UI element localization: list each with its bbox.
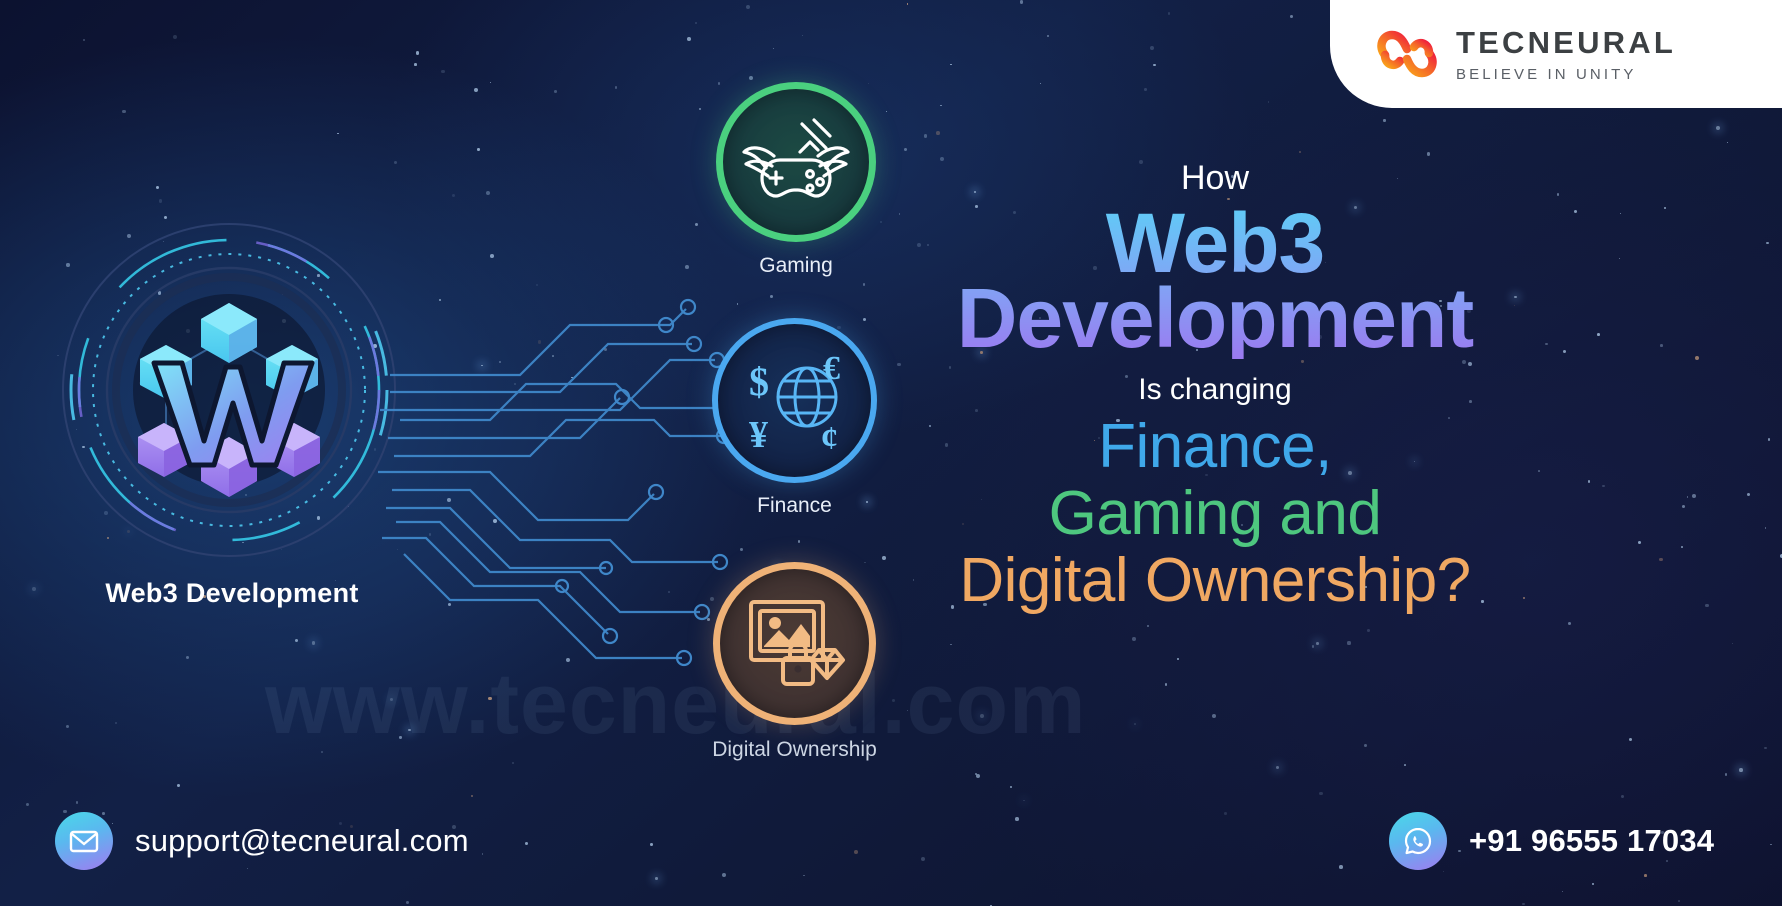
tecneural-infinity-knot-icon <box>1376 25 1438 83</box>
headline-title: Web3 Development <box>905 203 1525 358</box>
digital-ownership-label: Digital Ownership <box>712 738 877 762</box>
svg-text:¢: ¢ <box>821 420 838 455</box>
whatsapp-icon <box>1389 812 1447 870</box>
node-digital-ownership[interactable]: Digital Ownership <box>713 562 876 725</box>
envelope-icon <box>55 812 113 870</box>
web3-promo-banner: www.tecneural.com TECNEURAL BELIEVE I <box>0 0 1782 906</box>
brand-tagline: BELIEVE IN UNITY <box>1456 67 1676 82</box>
digital-ownership-ring <box>713 562 876 725</box>
svg-text:$: $ <box>749 359 769 404</box>
winged-gamepad-sword-icon <box>740 116 852 208</box>
node-gaming[interactable]: Gaming <box>716 82 876 242</box>
headline-title-line2: Development <box>905 278 1525 359</box>
headline-eyebrow: How <box>905 160 1525 197</box>
gaming-label: Gaming <box>759 254 833 278</box>
headline-item-gaming: Gaming and <box>905 481 1525 548</box>
svg-text:€: € <box>823 350 840 387</box>
headline-block: How Web3 Development Is changing Finance… <box>905 160 1525 615</box>
contact-phone[interactable]: +91 96555 17034 <box>1389 812 1714 870</box>
finance-label: Finance <box>757 494 832 518</box>
headline-item-ownership: Digital Ownership? <box>905 548 1525 615</box>
phone-number[interactable]: +91 96555 17034 <box>1469 823 1714 859</box>
gaming-ring <box>716 82 876 242</box>
globe-currency-symbols-icon: $ ¥ € ¢ <box>735 347 855 455</box>
headline-connector: Is changing <box>905 373 1525 406</box>
web3-blockchain-w-icon <box>54 215 404 565</box>
headline-item-finance: Finance, <box>905 414 1525 481</box>
framed-artwork-lock-diamond-icon <box>739 594 851 694</box>
brand-name: TECNEURAL <box>1456 27 1676 58</box>
node-finance[interactable]: $ ¥ € ¢ Finance <box>712 318 877 483</box>
brand-logo-badge[interactable]: TECNEURAL BELIEVE IN UNITY <box>1330 0 1782 108</box>
finance-ring: $ ¥ € ¢ <box>712 318 877 483</box>
svg-text:¥: ¥ <box>749 414 768 455</box>
contact-email[interactable]: support@tecneural.com <box>55 812 469 870</box>
email-address[interactable]: support@tecneural.com <box>135 823 469 859</box>
